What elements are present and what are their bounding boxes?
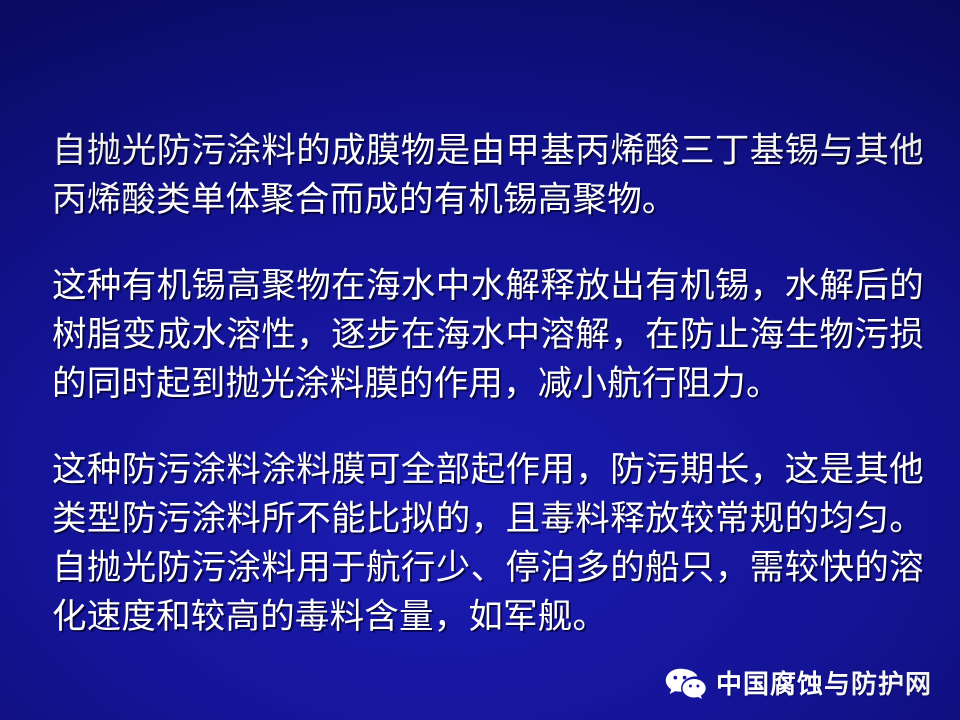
slide-canvas: 自抛光防污涂料的成膜物是由甲基丙烯酸三丁基锡与其他丙烯酸类单体聚合而成的有机锡高… [0, 0, 960, 720]
wechat-icon [665, 668, 707, 702]
watermark: 中国腐蚀与防护网 [665, 668, 932, 702]
watermark-label: 中国腐蚀与防护网 [716, 672, 932, 698]
slide-body-text: 自抛光防污涂料的成膜物是由甲基丙烯酸三丁基锡与其他丙烯酸类单体聚合而成的有机锡高… [52, 92, 924, 676]
paragraph-1: 自抛光防污涂料的成膜物是由甲基丙烯酸三丁基锡与其他丙烯酸类单体聚合而成的有机锡高… [52, 127, 924, 225]
paragraph-2: 这种有机锡高聚物在海水中水解释放出有机锡，水解后的树脂变成水溶性，逐步在海水中溶… [52, 262, 924, 409]
paragraph-3: 这种防污涂料涂料膜可全部起作用，防污期长，这是其他类型防污涂料所不能比拟的，且毒… [52, 446, 924, 642]
